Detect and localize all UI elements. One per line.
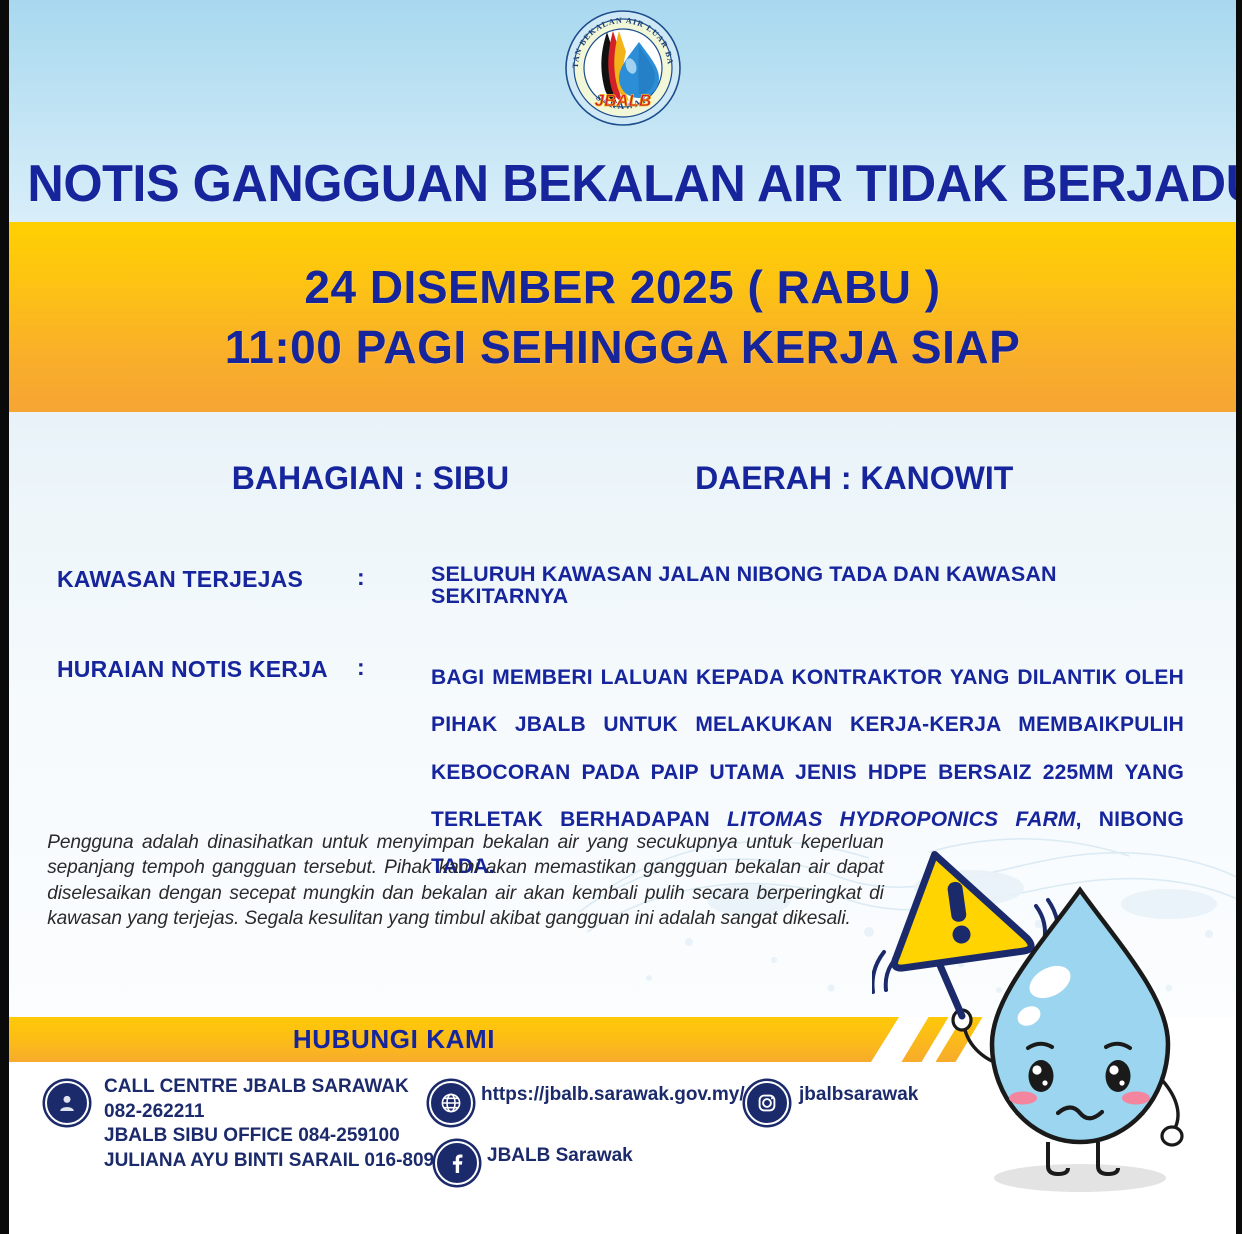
call-centre-block: CALL CENTRE JBALB SARAWAK 082-262211 JBA… xyxy=(104,1075,476,1174)
sibu-office: JBALB SIBU OFFICE 084-259100 xyxy=(104,1124,476,1149)
date-banner: 24 DISEMBER 2025 ( RABU ) 11:00 PAGI SEH… xyxy=(9,222,1236,412)
advisory-text: Pengguna adalah dinasihatkan untuk menyi… xyxy=(47,830,884,932)
affected-area-row: KAWASAN TERJEJAS : SELURUH KAWASAN JALAN… xyxy=(57,564,1184,607)
work-description-emphasis: LITOMAS HYDROPONICS FARM xyxy=(727,808,1076,831)
contact-heading: HUBUNGI KAMI xyxy=(293,1024,495,1055)
logo-wordmark: JBALB xyxy=(594,91,651,110)
contact-list: CALL CENTRE JBALB SARAWAK 082-262211 JBA… xyxy=(9,1075,1236,1195)
jbalb-logo: JABATAN BEKALAN AIR LUAR BANDAR SARAWAK … xyxy=(561,6,685,130)
call-centre-name: CALL CENTRE JBALB SARAWAK xyxy=(104,1075,476,1100)
call-centre-phone: 082-262211 xyxy=(104,1100,476,1125)
website-url[interactable]: https://jbalb.sarawak.gov.my/ xyxy=(481,1084,745,1106)
district-label: DAERAH : KANOWIT xyxy=(695,460,1013,497)
contact-officer: JULIANA AYU BINTI SARAIL 016-8091659 xyxy=(104,1149,476,1174)
division-label: BAHAGIAN : SIBU xyxy=(232,460,509,497)
facebook-handle[interactable]: JBALB Sarawak xyxy=(487,1145,633,1167)
globe-icon[interactable] xyxy=(429,1081,473,1125)
facebook-icon[interactable] xyxy=(435,1141,479,1185)
poster-header: JABATAN BEKALAN AIR LUAR BANDAR SARAWAK … xyxy=(9,0,1236,222)
page-title: NOTIS GANGGUAN BEKALAN AIR TIDAK BERJADU… xyxy=(27,154,1217,214)
notice-poster: JABATAN BEKALAN AIR LUAR BANDAR SARAWAK … xyxy=(0,0,1242,1234)
region-row: BAHAGIAN : SIBU DAERAH : KANOWIT xyxy=(9,460,1236,497)
affected-area-value: SELURUH KAWASAN JALAN NIBONG TADA DAN KA… xyxy=(431,564,1184,607)
affected-area-colon: : xyxy=(357,564,431,607)
contact-heading-bar: HUBUNGI KAMI xyxy=(9,1017,899,1062)
notice-body: BAHAGIAN : SIBU DAERAH : KANOWIT KAWASAN… xyxy=(9,412,1236,1017)
notice-date: 24 DISEMBER 2025 ( RABU ) xyxy=(304,260,940,314)
instagram-icon[interactable] xyxy=(745,1081,789,1125)
instagram-handle[interactable]: jbalbsarawak xyxy=(799,1084,918,1106)
affected-area-label: KAWASAN TERJEJAS xyxy=(57,564,357,607)
poster-footer: HUBUNGI KAMI CALL CENTRE JBALB SARAWAK 0… xyxy=(9,1017,1236,1234)
work-description-part1: BAGI MEMBERI LALUAN KEPADA KONTRAKTOR YA… xyxy=(431,666,1184,831)
person-icon xyxy=(45,1081,89,1125)
notice-time: 11:00 PAGI SEHINGGA KERJA SIAP xyxy=(225,320,1021,374)
